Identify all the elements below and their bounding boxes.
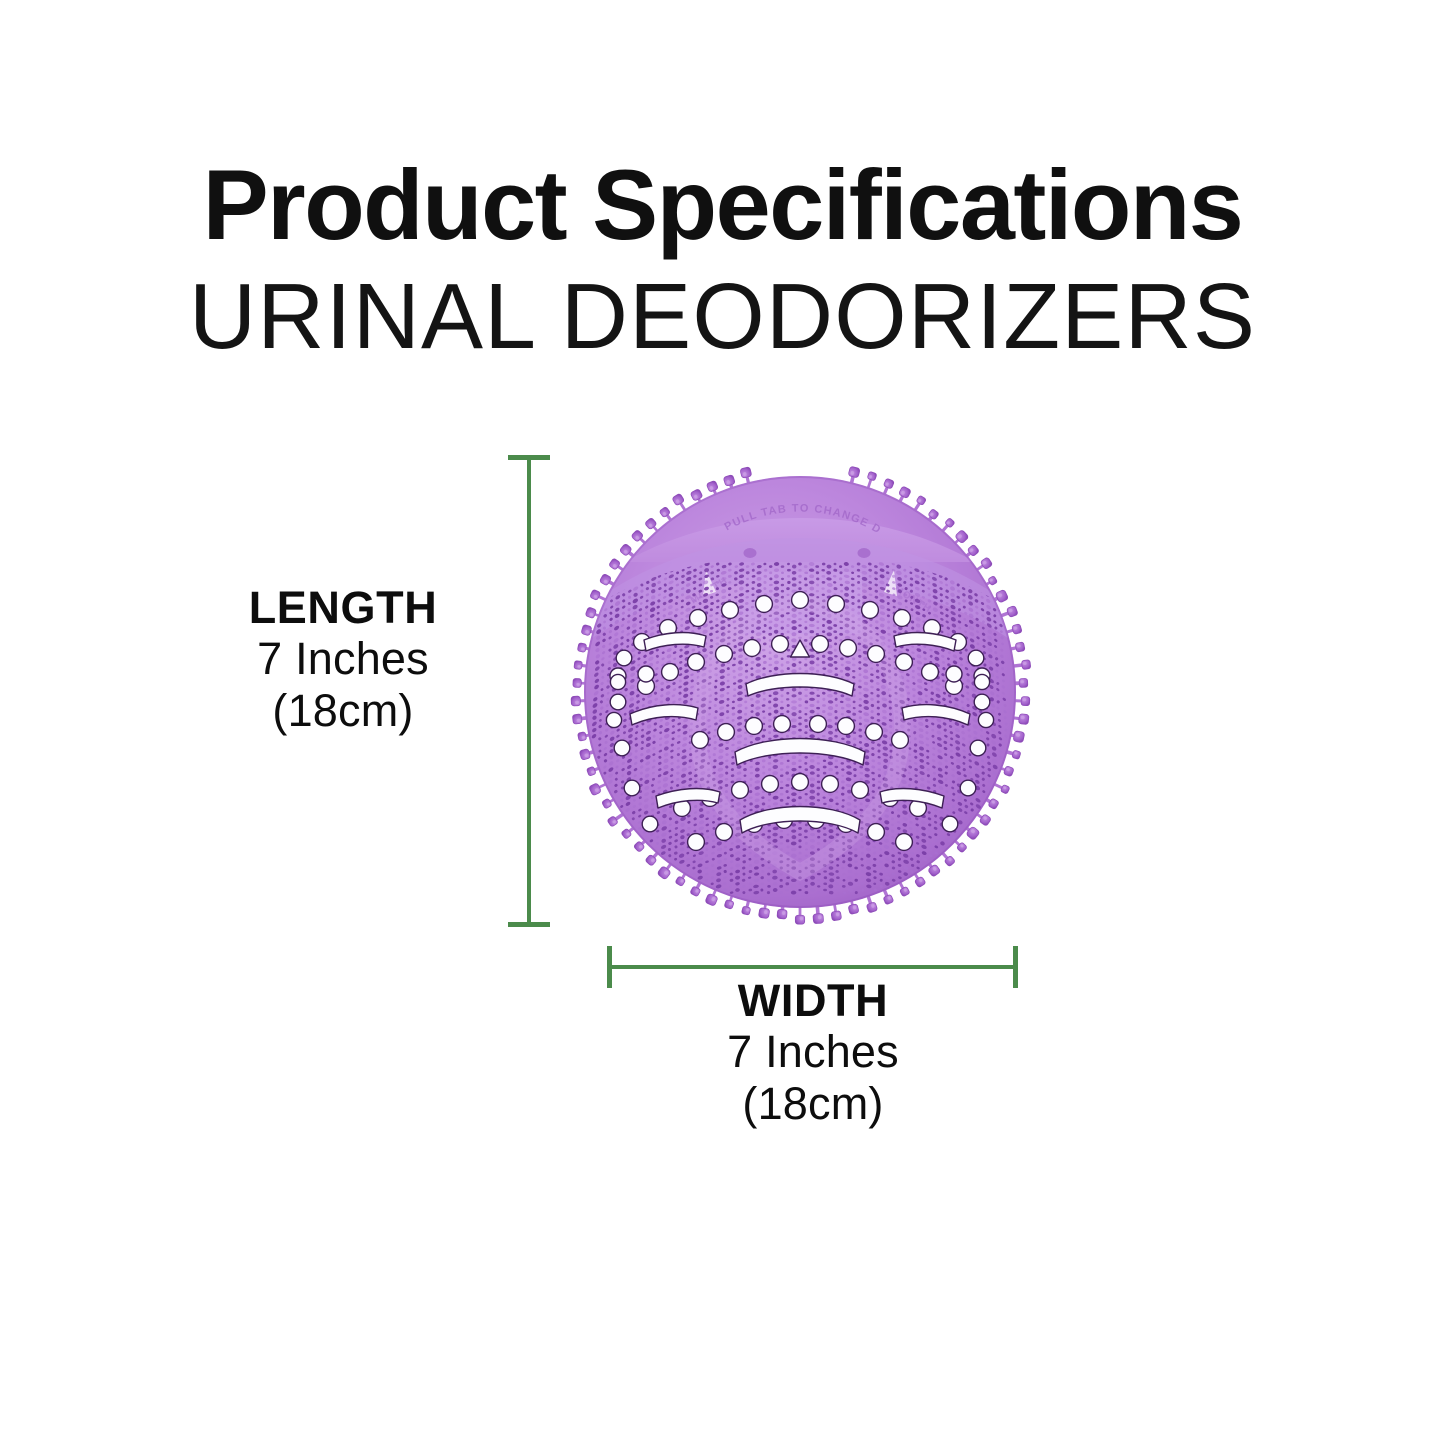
width-cap-right [1013,946,1018,988]
width-dimension-line [609,965,1017,969]
length-dimension-line [527,455,531,927]
width-label-block: WIDTH 7 Inches (18cm) [613,975,1013,1129]
pin-hole-left [744,548,757,558]
length-cap-bottom [508,922,550,927]
width-cap-left [607,946,612,988]
product-specification-infographic: Product Specifications URINAL DEODORIZER… [0,0,1445,1445]
pin-hole-right [858,548,871,558]
heading-block: Product Specifications URINAL DEODORIZER… [0,155,1445,366]
length-label-metric: (18cm) [188,685,498,736]
page-subtitle: URINAL DEODORIZERS [0,266,1445,366]
length-label-title: LENGTH [188,582,498,633]
length-cap-top [508,455,550,460]
length-label-block: LENGTH 7 Inches (18cm) [188,582,498,736]
page-title: Product Specifications [0,155,1445,256]
width-label-inches: 7 Inches [613,1026,1013,1077]
urinal-screen-illustration: PULL TAB TO CHANGE DATE MONTH MONTH [560,452,1040,932]
length-label-inches: 7 Inches [188,633,498,684]
width-label-title: WIDTH [613,975,1013,1026]
product-image: PULL TAB TO CHANGE DATE MONTH MONTH [560,452,1040,932]
width-label-metric: (18cm) [613,1078,1013,1129]
